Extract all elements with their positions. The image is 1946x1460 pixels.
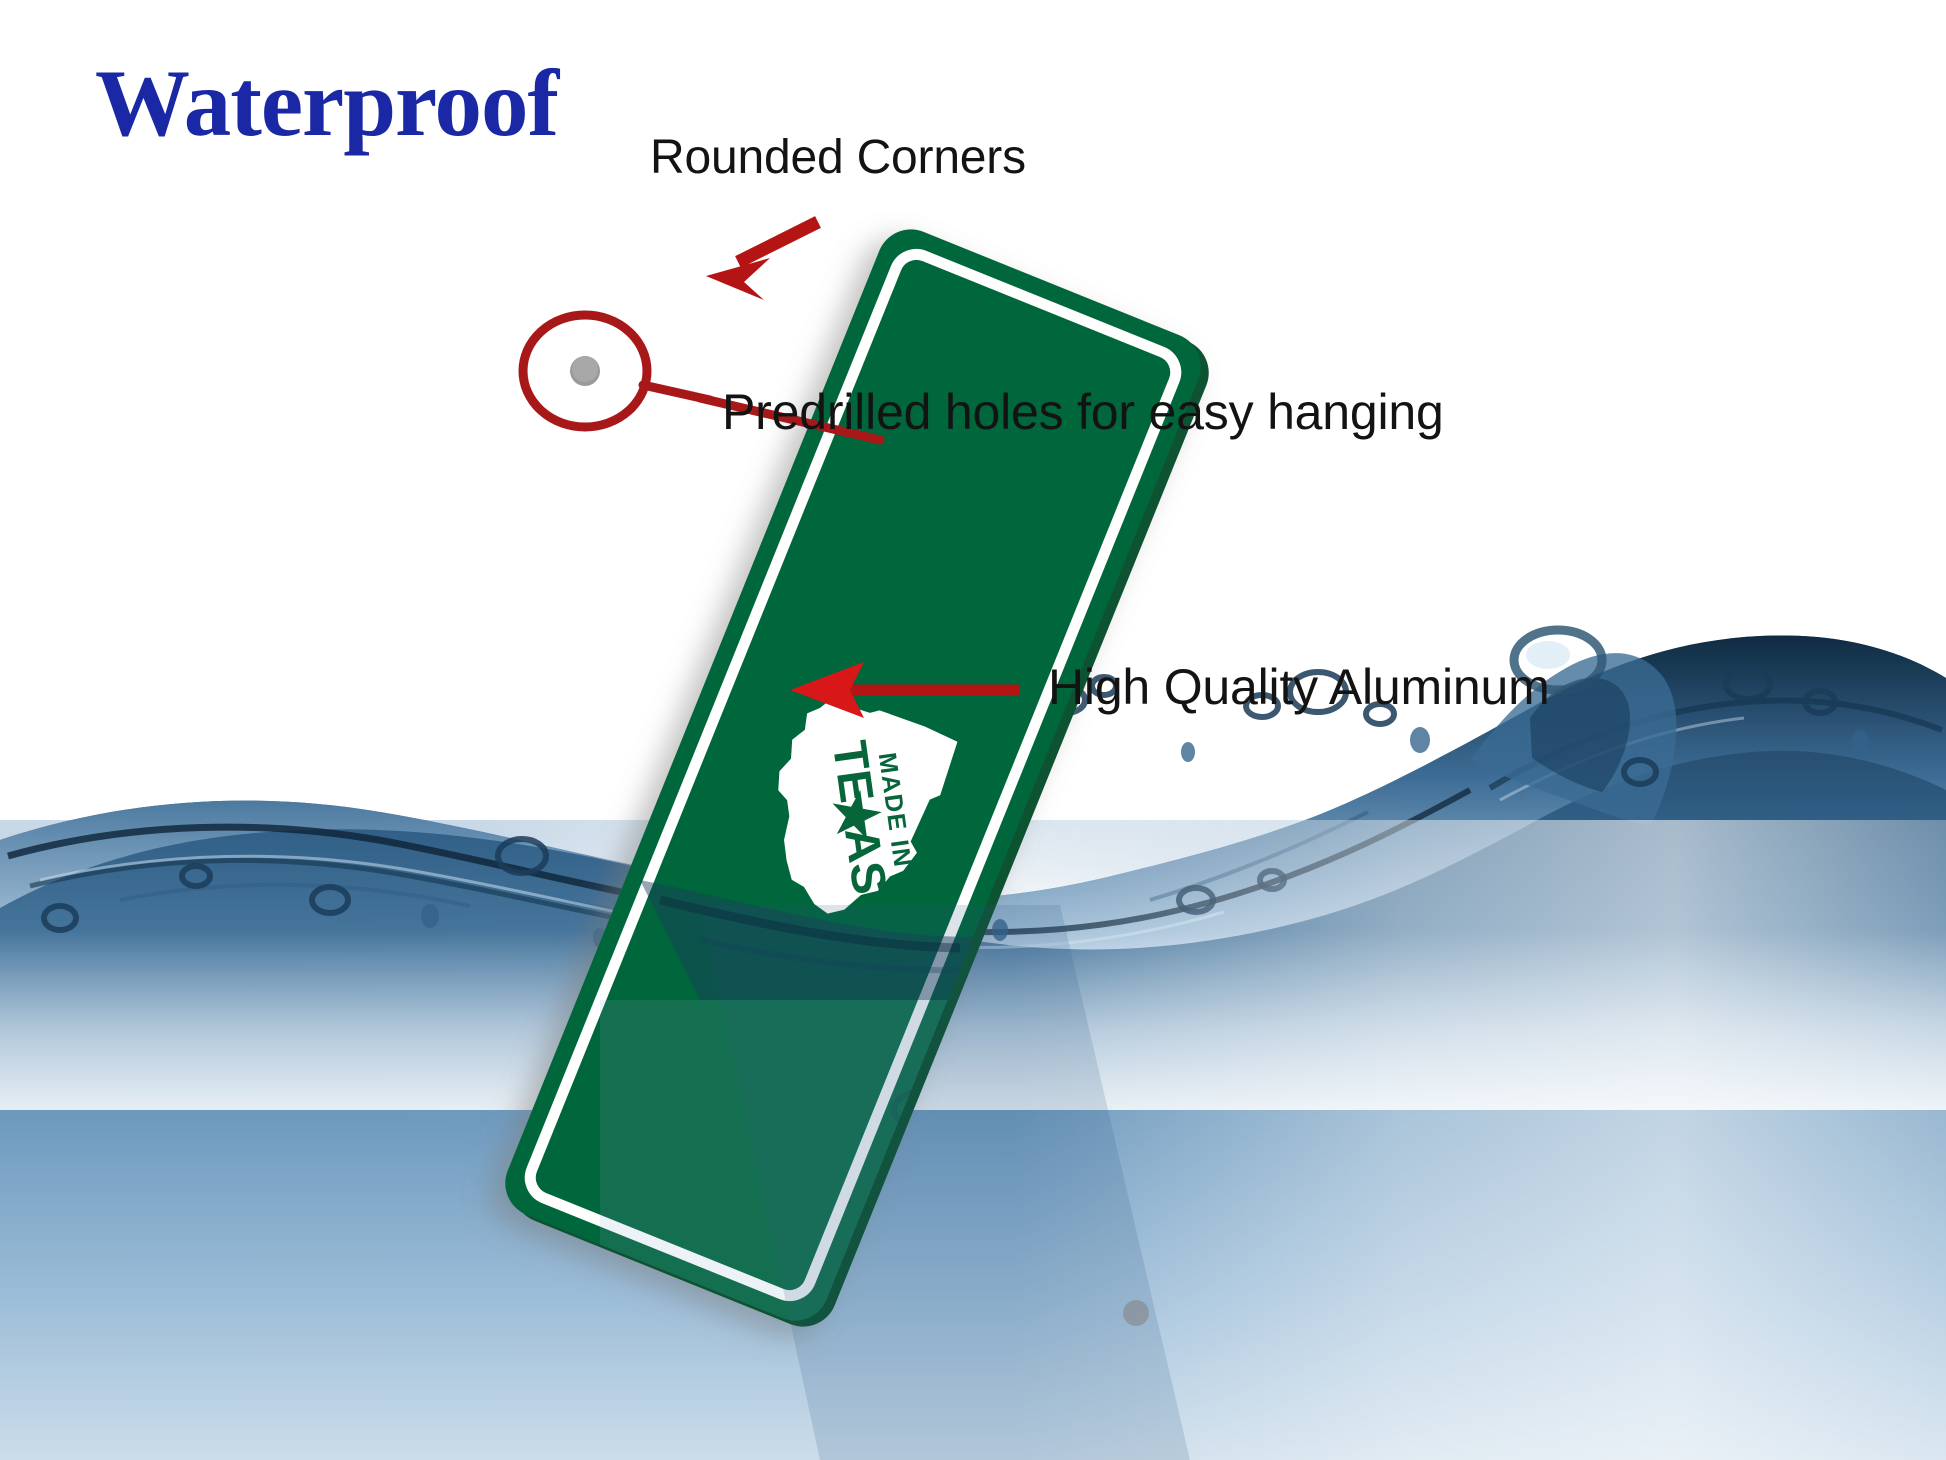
sign-illustration: MADE IN TE ★ AS [0,0,1946,1460]
product-feature-graphic: MADE IN TE ★ AS [0,0,1946,1460]
logo-line-2-suffix: AS [834,824,896,897]
callout-label-predrilled-holes: Predrilled holes for easy hanging [722,383,1444,441]
callout-label-high-quality-aluminum: High Quality Aluminum [1048,658,1550,716]
page-title: Waterproof [95,48,558,158]
aluminum-sign: MADE IN TE ★ AS [0,0,1946,1460]
predrilled-hole-top [570,356,600,386]
callout-label-rounded-corners: Rounded Corners [650,130,1026,185]
